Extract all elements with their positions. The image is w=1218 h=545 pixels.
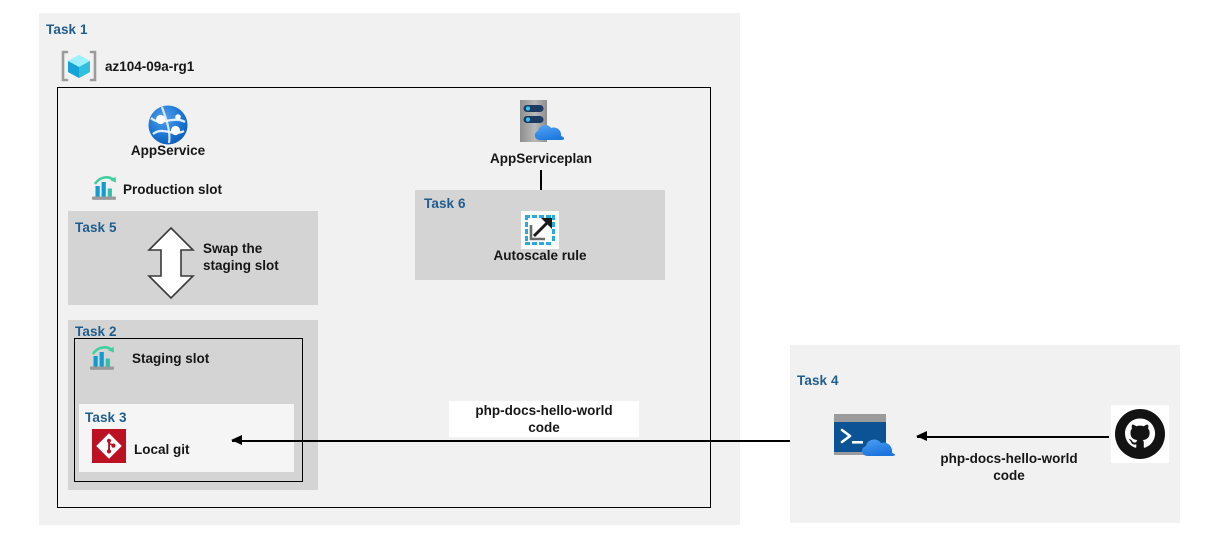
app-service-plan-label: AppServiceplan	[458, 150, 624, 167]
resource-group-label: az104-09a-rg1	[105, 58, 194, 75]
cloud-shell-icon	[832, 412, 900, 460]
git-icon	[92, 429, 126, 463]
task4-label: Task 4	[797, 373, 839, 388]
github-to-cloudshell-label: php-docs-hello-world code	[916, 450, 1102, 484]
deployment-slot-icon	[89, 175, 119, 205]
autoscale-rule-icon	[521, 211, 559, 249]
resource-group-icon	[60, 49, 98, 83]
task5-label: Task 5	[75, 220, 117, 235]
github-to-cloudshell-connector	[917, 436, 1109, 438]
local-git-label: Local git	[134, 441, 190, 458]
app-service-plan-icon	[512, 98, 570, 146]
cloudshell-to-localgit-arrowhead	[231, 435, 242, 445]
task6-label: Task 6	[424, 196, 466, 211]
task1-label: Task 1	[46, 22, 88, 37]
swap-double-arrow-icon	[145, 226, 197, 300]
swap-label: Swap the staging slot	[203, 240, 279, 274]
cloudshell-to-localgit-label: php-docs-hello-world code	[449, 401, 639, 437]
diagram-canvas: Task 1 az104-09a-rg1	[0, 0, 1218, 545]
deployment-slot-icon	[87, 345, 117, 375]
task2-label: Task 2	[75, 324, 117, 339]
staging-slot-label: Staging slot	[132, 350, 209, 367]
task3-label: Task 3	[85, 410, 127, 425]
app-service-icon	[147, 104, 189, 146]
cloudshell-to-localgit-connector	[232, 440, 812, 442]
production-slot-label: Production slot	[123, 181, 222, 198]
github-to-cloudshell-arrowhead	[916, 431, 927, 441]
github-icon	[1111, 405, 1169, 463]
autoscale-rule-label: Autoscale rule	[460, 247, 620, 264]
app-service-label: AppService	[98, 142, 238, 159]
